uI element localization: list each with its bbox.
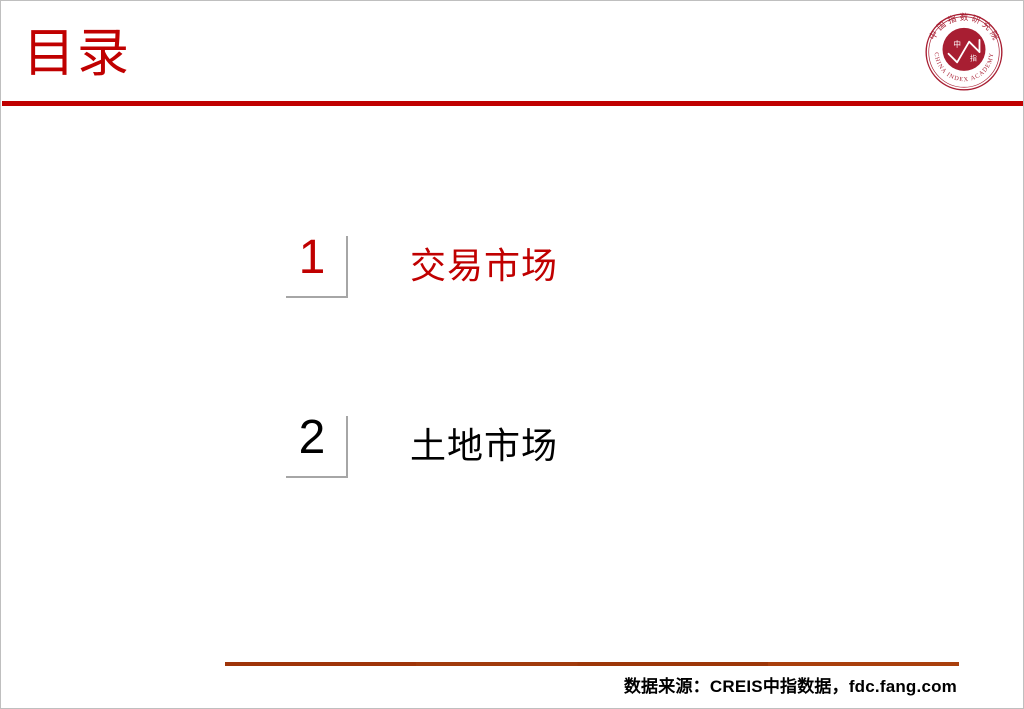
toc-number-1: 1 — [286, 230, 338, 286]
slide: 目录 中 国 指 数 研 究 院 CHINA INDEX ACADEMY — [0, 0, 1024, 709]
svg-text:中: 中 — [953, 39, 961, 49]
svg-text:指: 指 — [970, 54, 977, 63]
toc-item-1[interactable]: 1 交易市场 — [286, 236, 558, 298]
toc-number-2: 2 — [286, 410, 338, 466]
toc-label-1[interactable]: 交易市场 — [410, 236, 558, 294]
toc-number-bracket-2: 2 — [286, 416, 348, 478]
table-of-contents: 1 交易市场 2 土地市场 — [1, 106, 1024, 646]
toc-item-2[interactable]: 2 土地市场 — [286, 416, 558, 478]
footer-divider — [225, 662, 959, 666]
toc-label-2[interactable]: 土地市场 — [410, 416, 558, 474]
toc-number-bracket-1: 1 — [286, 236, 348, 298]
china-index-academy-logo-icon: 中 国 指 数 研 究 院 CHINA INDEX ACADEMY 中 指 — [921, 9, 1007, 95]
data-source-note: 数据来源：CREIS中指数据，fdc.fang.com — [624, 675, 957, 699]
slide-header: 目录 中 国 指 数 研 究 院 CHINA INDEX ACADEMY — [1, 1, 1024, 101]
page-title: 目录 — [23, 23, 131, 85]
